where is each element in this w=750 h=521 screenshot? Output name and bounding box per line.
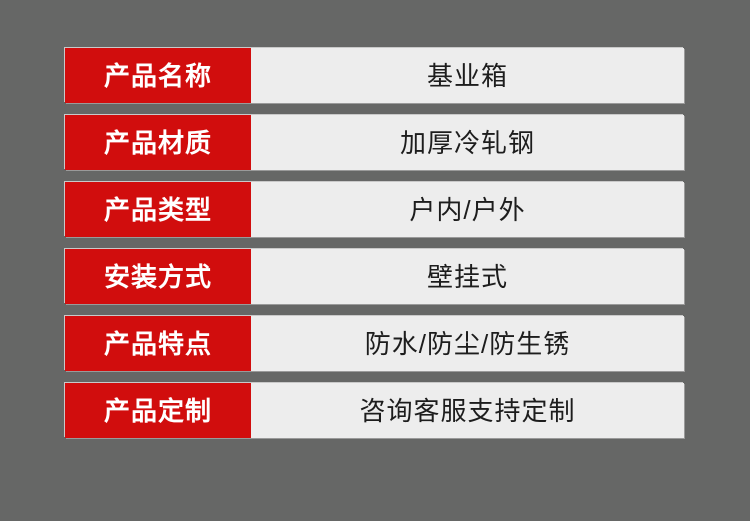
table-row: 产品特点 防水/防尘/防生锈 [65,316,684,371]
spec-label-product-features: 产品特点 [65,316,251,371]
table-row: 产品定制 咨询客服支持定制 [65,383,684,438]
spec-value-installation-method: 壁挂式 [251,249,684,304]
table-row: 产品材质 加厚冷轧钢 [65,115,684,170]
spec-value-product-name: 基业箱 [251,48,684,103]
spec-label-product-name: 产品名称 [65,48,251,103]
spec-label-product-material: 产品材质 [65,115,251,170]
table-row: 产品类型 户内/户外 [65,182,684,237]
spec-label-product-type: 产品类型 [65,182,251,237]
spec-value-product-customization: 咨询客服支持定制 [251,383,684,438]
product-spec-table: 产品名称 基业箱 产品材质 加厚冷轧钢 产品类型 户内/户外 安装方式 壁挂式 … [65,48,684,438]
table-row: 产品名称 基业箱 [65,48,684,103]
table-row: 安装方式 壁挂式 [65,249,684,304]
spec-label-product-customization: 产品定制 [65,383,251,438]
spec-label-installation-method: 安装方式 [65,249,251,304]
spec-value-product-features: 防水/防尘/防生锈 [251,316,684,371]
spec-value-product-type: 户内/户外 [251,182,684,237]
spec-value-product-material: 加厚冷轧钢 [251,115,684,170]
